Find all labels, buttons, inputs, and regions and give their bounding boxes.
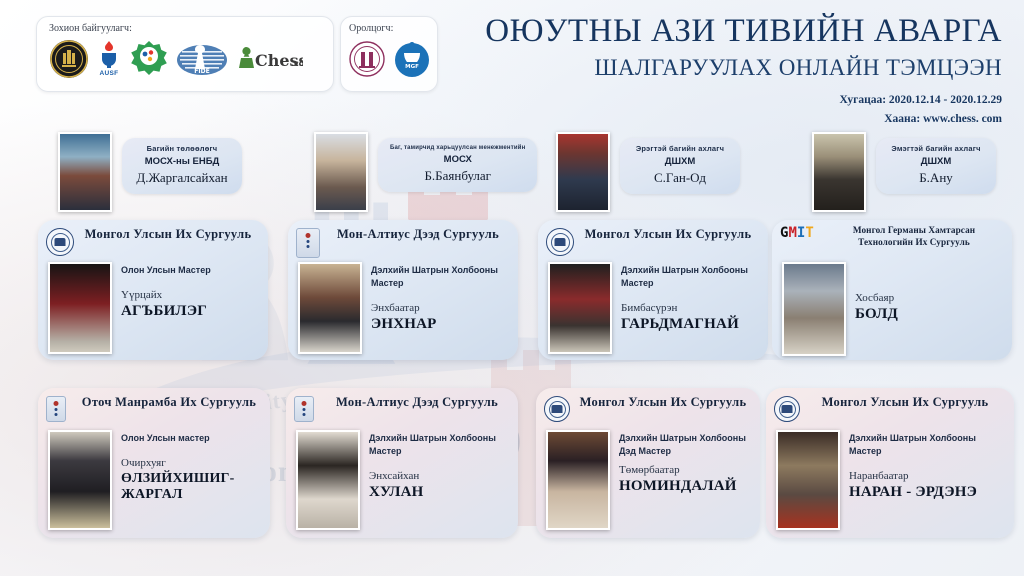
card-header: Мон-Алтиус Дээд Сургууль [286, 388, 518, 426]
soyombo-emblem-icon [294, 396, 324, 426]
player-photo-bold [782, 262, 846, 356]
player-first-name: Хосбаяр [855, 292, 1004, 304]
player-card-ulziikhishig-jargal[interactable]: Оточ Манрамба Их Сургууль Олон Улсын мас… [38, 388, 270, 538]
player-card-khulan[interactable]: Мон-Алтиус Дээд Сургууль Дэлхийн Шатрын … [286, 388, 518, 538]
card-body: Хосбаяр БОЛД [772, 256, 1012, 360]
card-body: Олон Улсын мастер Очирхуяг ӨЛЗИЙХИШИГ-ЖА… [38, 426, 270, 538]
event-venue: Хаана: www.chess. com [382, 111, 1002, 128]
card-body: Дэлхийн Шатрын Холбооны Мастер Наранбаат… [766, 426, 1014, 538]
player-card-bold[interactable]: GMIT Монгол Германы Хамтарсан Технологий… [772, 220, 1012, 360]
seal-icon [544, 396, 574, 426]
official-org: ДШХМ [888, 155, 984, 169]
card-body: Дэлхийн Шатрын Холбооны Мастер Энхсайхан… [286, 426, 518, 538]
player-university: Мон-Алтиус Дээд Сургууль [324, 395, 508, 410]
player-university: Мон-Алтиус Дээд Сургууль [326, 227, 508, 242]
official-photo-jargalsaikhan [58, 132, 112, 212]
official-photo-anu [812, 132, 866, 212]
player-first-name: Үүрцайх [121, 289, 260, 301]
player-first-name: Энхбаатар [371, 302, 510, 314]
event-dates: Хугацаа: 2020.12.14 - 2020.12.29 [382, 92, 1002, 109]
player-title: Дэлхийн Шатрын Холбооны Дэд Мастер [619, 432, 752, 458]
card-info: Хосбаяр БОЛД [855, 262, 1004, 356]
official-org: МОСХ [390, 153, 525, 167]
card-header: Мон-Алтиус Дээд Сургууль [288, 220, 518, 258]
player-university: Монгол Германы Хамтарсан Технологийн Их … [824, 225, 1002, 249]
fide-logo: FIDE [176, 39, 228, 79]
card-info: Олон Улсын мастер Очирхуяг ӨЛЗИЙХИШИГ-ЖА… [121, 430, 262, 530]
seal-icon [774, 396, 804, 426]
player-card-garidmagnai[interactable]: Монгол Улсын Их Сургууль Дэлхийн Шатрын … [538, 220, 768, 360]
card-body: Дэлхийн Шатрын Холбооны Мастер Бимбасүрэ… [538, 258, 768, 360]
player-card-agbileg[interactable]: Монгол Улсын Их Сургууль Олон Улсын Маст… [38, 220, 268, 360]
official-label-1: Багийн төлөөлөгч МОСХ-ны ЕНБД Д.Жаргалса… [122, 138, 242, 194]
player-university: Оточ Манрамба Их Сургууль [76, 395, 260, 410]
player-photo-ulziikhishig-jargal [48, 430, 112, 530]
player-university: Монгол Улсын Их Сургууль [576, 227, 758, 242]
card-header: Оточ Манрамба Их Сургууль [38, 388, 270, 426]
official-name: Б.Ану [888, 170, 984, 186]
player-photo-khulan [296, 430, 360, 530]
mosx-seal-logo [49, 39, 89, 79]
player-last-name: АГЪБИЛЭГ [121, 303, 260, 320]
player-last-name: ЭНХНАР [371, 316, 510, 333]
official-name: Д.Жаргалсайхан [134, 170, 230, 186]
official-card-3: Эрэгтэй багийн ахлагч ДШХМ С.Ган-Од [556, 132, 740, 214]
player-first-name: Очирхуяг [121, 457, 262, 469]
official-card-2: Баг, тамирчид харьцуулсан менежментийн М… [314, 132, 537, 214]
card-info: Дэлхийн Шатрын Холбооны Мастер Энхсайхан… [369, 430, 510, 530]
official-name: Б.Баянбулаг [390, 168, 525, 184]
official-role: Багийн төлөөлөгч [134, 144, 230, 154]
player-photo-enkhnar [298, 262, 362, 354]
player-last-name: ӨЛЗИЙХИШИГ-ЖАРГАЛ [121, 471, 262, 502]
card-info: Дэлхийн Шатрын Холбооны Мастер Энхбаатар… [371, 262, 510, 354]
svg-text:FIDE: FIDE [194, 68, 209, 75]
card-info: Дэлхийн Шатрын Холбооны Мастер Наранбаат… [849, 430, 1006, 530]
card-body: Дэлхийн Шатрын Холбооны Мастер Энхбаатар… [288, 258, 518, 360]
player-first-name: Энхсайхан [369, 470, 510, 482]
player-photo-nomindalai [546, 430, 610, 530]
official-card-4: Эмэгтэй багийн ахлагч ДШХМ Б.Ану [812, 132, 996, 214]
university-seal-logo [349, 39, 385, 79]
svg-text:.com: .com [291, 59, 303, 68]
player-photo-naran-erdene [776, 430, 840, 530]
player-card-enkhnar[interactable]: Мон-Алтиус Дээд Сургууль Дэлхийн Шатрын … [288, 220, 518, 360]
card-header: Монгол Улсын Их Сургууль [766, 388, 1014, 426]
soyombo-emblem-icon [296, 228, 326, 258]
player-last-name: ХУЛАН [369, 484, 510, 501]
player-last-name: БОЛД [855, 306, 1004, 323]
player-title: Дэлхийн Шатрын Холбооны Мастер [369, 432, 510, 458]
official-card-1: Багийн төлөөлөгч МОСХ-ны ЕНБД Д.Жаргалса… [58, 132, 242, 214]
ausf-logo: AUSF [96, 39, 122, 79]
player-last-name: НОМИНДАЛАЙ [619, 478, 752, 495]
player-first-name: Бимбасүрэн [621, 302, 760, 314]
official-role: Эмэгтэй багийн ахлагч [888, 144, 984, 154]
player-title: Олон Улсын Мастер [121, 264, 260, 277]
official-role: Эрэгтэй багийн ахлагч [632, 144, 728, 154]
player-title: Дэлхийн Шатрын Холбооны Мастер [371, 264, 510, 290]
official-label-4: Эмэгтэй багийн ахлагч ДШХМ Б.Ану [876, 138, 996, 194]
player-university: Монгол Улсын Их Сургууль [574, 395, 750, 410]
official-name: С.Ган-Од [632, 170, 728, 186]
player-university: Монгол Улсын Их Сургууль [804, 395, 1004, 410]
page-title: ОЮУТНЫ АЗИ ТИВИЙН АВАРГА [382, 14, 1002, 49]
card-header: Монгол Улсын Их Сургууль [538, 220, 768, 258]
player-first-name: Төмөрбаатар [619, 464, 752, 476]
player-last-name: ГАРЬДМАГНАЙ [621, 316, 760, 333]
card-header: Монгол Улсын Их Сургууль [536, 388, 760, 426]
card-body: Дэлхийн Шатрын Холбооны Дэд Мастер Төмөр… [536, 426, 760, 538]
player-card-naran-erdene[interactable]: Монгол Улсын Их Сургууль Дэлхийн Шатрын … [766, 388, 1014, 538]
organizer-logo-strip: AUSF [49, 36, 325, 82]
official-label-3: Эрэгтэй багийн ахлагч ДШХМ С.Ган-Од [620, 138, 740, 194]
player-card-nomindalai[interactable]: Монгол Улсын Их Сургууль Дэлхийн Шатрын … [536, 388, 760, 538]
seal-icon [546, 228, 576, 258]
organizers-caption: Зохион байгуулагч: [49, 23, 325, 34]
player-title: Дэлхийн Шатрын Холбооны Мастер [621, 264, 760, 290]
official-org: ДШХМ [632, 155, 728, 169]
card-info: Олон Улсын Мастер Үүрцайх АГЪБИЛЭГ [121, 262, 260, 354]
gmit-logo-icon: GMIT [780, 226, 824, 256]
player-photo-garidmagnai [548, 262, 612, 354]
official-org: МОСХ-ны ЕНБД [134, 155, 230, 169]
page-subtitle: ШАЛГАРУУЛАХ ОНЛАЙН ТЭМЦЭЭН [382, 53, 1002, 83]
card-header: GMIT Монгол Германы Хамтарсан Технологий… [772, 220, 1012, 256]
organizers-panel: Зохион байгуулагч: AUSF [36, 16, 334, 92]
asian-chess-federation-logo [129, 39, 169, 79]
poster-canvas: ehran-2020 sity Championship Asian Unive… [0, 0, 1024, 576]
player-photo-agbileg [48, 262, 112, 354]
official-role: Баг, тамирчид харьцуулсан менежментийн [390, 144, 525, 152]
title-block: ОЮУТНЫ АЗИ ТИВИЙН АВАРГА ШАЛГАРУУЛАХ ОНЛ… [382, 14, 1002, 128]
officials-row: Багийн төлөөлөгч МОСХ-ны ЕНБД Д.Жаргалса… [0, 132, 1024, 214]
player-title: Олон Улсын мастер [121, 432, 262, 445]
player-university: Монгол Улсын Их Сургууль [76, 227, 258, 242]
official-photo-ganod [556, 132, 610, 212]
seal-icon [46, 228, 76, 258]
card-body: Олон Улсын Мастер Үүрцайх АГЪБИЛЭГ [38, 258, 268, 360]
official-label-2: Баг, тамирчид харьцуулсан менежментийн М… [378, 138, 537, 192]
ausf-logo-label: AUSF [100, 71, 119, 78]
chesscom-logo: Chess .com [235, 39, 303, 79]
card-header: Монгол Улсын Их Сургууль [38, 220, 268, 258]
card-info: Дэлхийн Шатрын Холбооны Дэд Мастер Төмөр… [619, 430, 752, 530]
official-photo-bayanbulag [314, 132, 368, 212]
player-last-name: НАРАН - ЭРДЭНЭ [849, 484, 1006, 501]
card-info: Дэлхийн Шатрын Холбооны Мастер Бимбасүрэ… [621, 262, 760, 354]
player-first-name: Наранбаатар [849, 470, 1006, 482]
player-title: Дэлхийн Шатрын Холбооны Мастер [849, 432, 1006, 458]
soyombo-emblem-icon [46, 396, 76, 426]
